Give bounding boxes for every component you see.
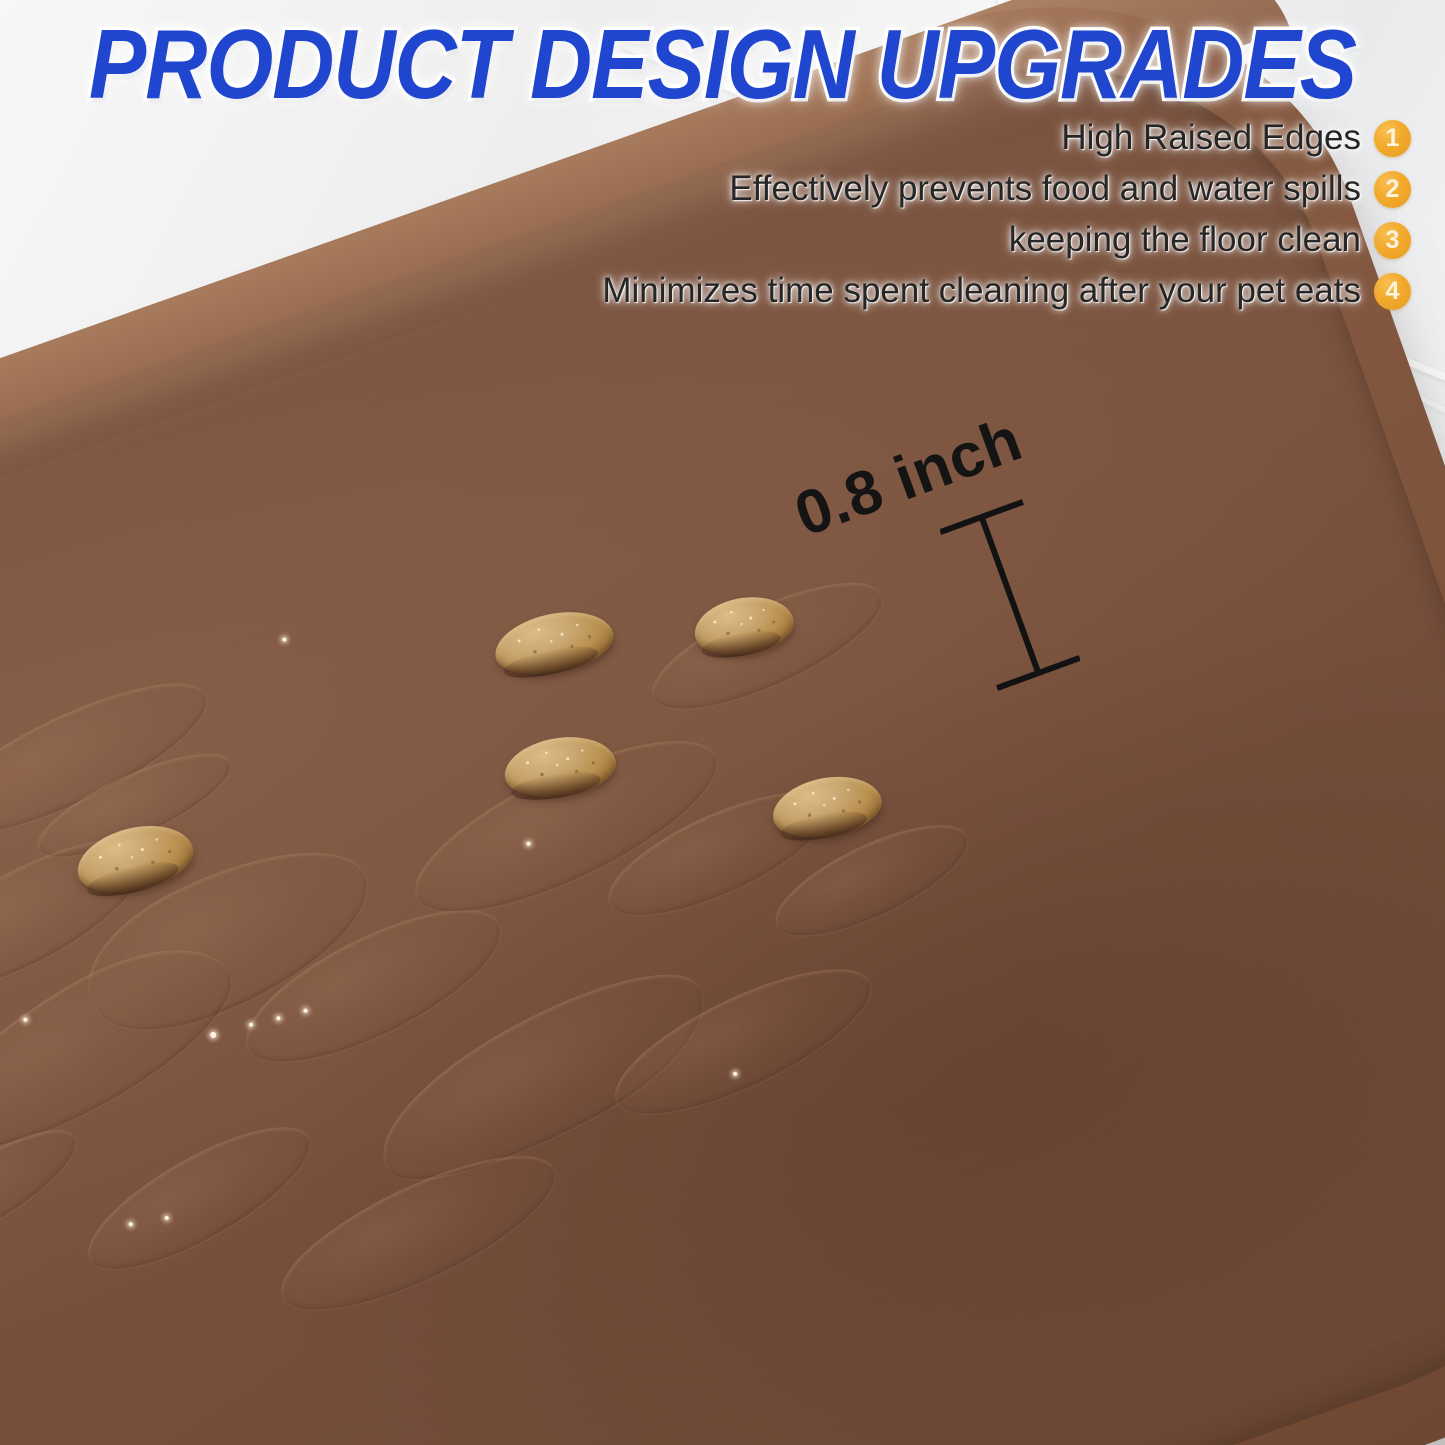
feature-item: Effectively prevents food and water spil… [729, 169, 1411, 209]
feature-item: High Raised Edges 1 [1061, 118, 1411, 158]
feature-number-badge: 1 [1374, 120, 1411, 157]
feature-label: Effectively prevents food and water spil… [729, 169, 1361, 209]
feature-number-badge: 3 [1374, 222, 1411, 259]
feature-number-badge: 4 [1374, 273, 1411, 310]
feature-label: Minimizes time spent cleaning after your… [602, 271, 1361, 311]
product-marketing-image: 0.8 inch PRODUCT DESIGN UPGRADES High Ra… [0, 0, 1445, 1445]
dimension-ibeam-marker [940, 480, 1080, 710]
feature-item: keeping the floor clean 3 [1009, 220, 1411, 260]
page-title: PRODUCT DESIGN UPGRADES [0, 16, 1445, 116]
feature-list: High Raised Edges 1 Effectively prevents… [602, 118, 1411, 311]
dimension-vertical-line [982, 517, 1039, 673]
feature-label: keeping the floor clean [1009, 220, 1361, 260]
dimension-top-cap [940, 502, 1023, 532]
feature-item: Minimizes time spent cleaning after your… [602, 271, 1411, 311]
dimension-bottom-cap [997, 658, 1080, 688]
feature-number-badge: 2 [1374, 171, 1411, 208]
feature-label: High Raised Edges [1061, 118, 1361, 158]
